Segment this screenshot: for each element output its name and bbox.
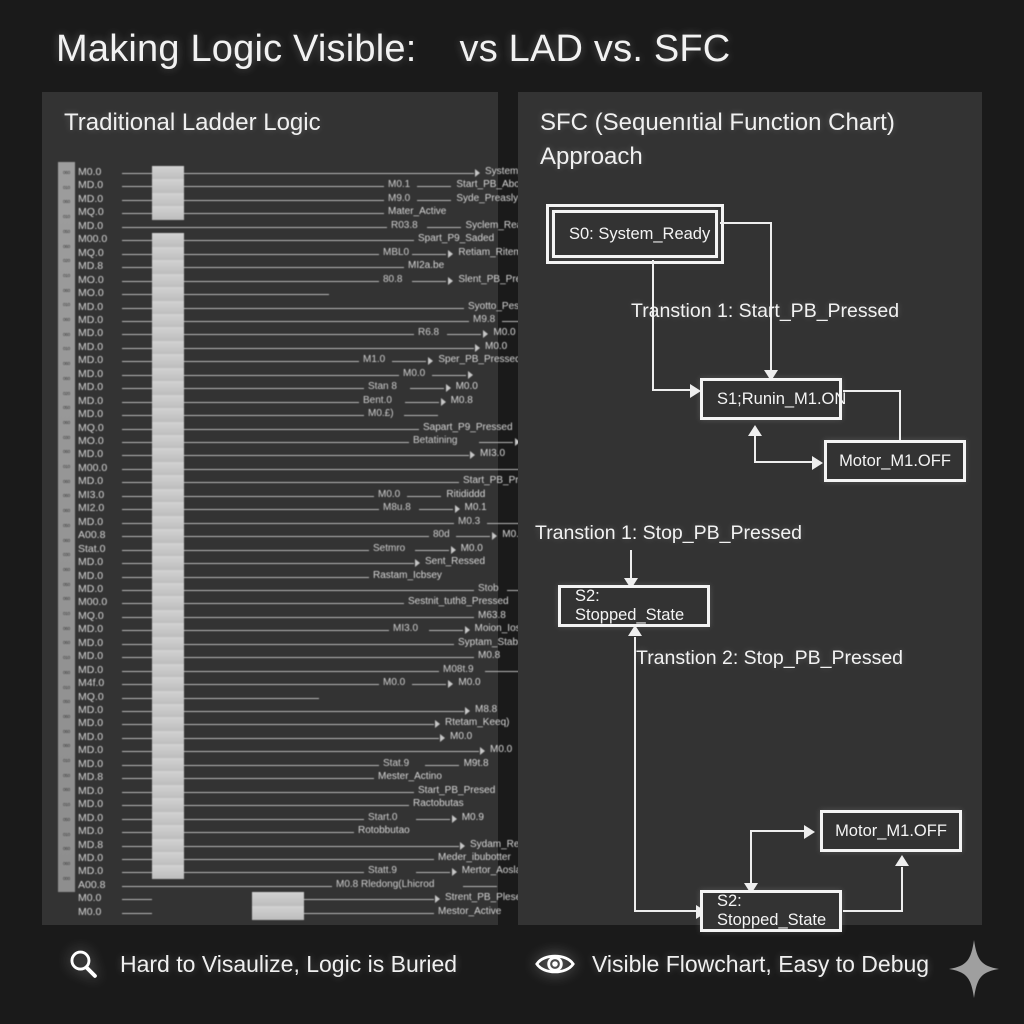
ladder-mid-address: MI3.0: [393, 623, 418, 634]
ladder-wire: [184, 832, 354, 833]
ladder-coil-label: Start_PB_Presed: [418, 785, 495, 796]
caption-traditional-ladder: Hard to Visaulize, Logic is Buried: [62, 947, 457, 981]
ladder-rung-address: MD.0: [78, 220, 103, 232]
ladder-wire: [419, 509, 453, 510]
ladder-rung-address: MD.0: [78, 637, 103, 649]
ladder-wire: [184, 429, 419, 430]
ladder-coil-label: M0.0: [458, 677, 480, 688]
ladder-wire: [184, 577, 369, 578]
ladder-coil-label: Rotobbutao: [358, 825, 410, 836]
ladder-wire: [432, 375, 466, 376]
sfc-transition-2-label: Transtion 1: Stop_PB_Pressed: [535, 522, 802, 545]
ladder-rung-address: MD.0: [78, 865, 103, 877]
ladder-wire: [184, 334, 414, 335]
ladder-wire: [184, 254, 379, 255]
ladder-rung-number: 060: [59, 596, 74, 601]
ladder-rung-address: MI2.0: [78, 502, 104, 514]
ladder-wire: [184, 792, 414, 793]
ladder-rung-address: MD.0: [78, 798, 103, 810]
ladder-flow-arrow-icon: [475, 169, 480, 177]
ladder-coil-label: Rastam_Icbsey: [373, 570, 442, 581]
ladder-wire: [122, 361, 152, 362]
ladder-rung-address: MD.0: [78, 825, 103, 837]
edge-s0-to-t1-horizontal: [720, 222, 772, 224]
ladder-wire: [184, 603, 404, 604]
ladder-rung-address: MD.0: [78, 570, 103, 582]
ladder-wire: [412, 281, 446, 282]
ladder-wire: [122, 563, 152, 564]
ladder-wire: [427, 227, 461, 228]
ladder-rung-address: MD.0: [78, 381, 103, 393]
ladder-rung-address: MD.0: [78, 516, 103, 528]
ladder-flow-arrow-icon: [451, 546, 456, 554]
edge-motor1-loop-horizontal: [754, 461, 816, 463]
ladder-rung: M0.0Mestor_Active: [78, 905, 488, 922]
sfc-node-s0-system-ready[interactable]: S0: System_Ready: [552, 210, 718, 258]
ladder-coil-label: Mater_Active: [388, 206, 446, 217]
ladder-wire: [122, 577, 152, 578]
ladder-wire: [417, 200, 451, 201]
ladder-wire: [122, 281, 152, 282]
ladder-mid-address: Betatining: [413, 435, 457, 446]
ladder-wire: [429, 630, 463, 631]
ladder-flow-arrow-icon: [448, 680, 453, 688]
ladder-flow-arrow-icon: [435, 895, 440, 903]
ladder-mid-address: Start.0: [368, 812, 397, 823]
ladder-wire: [405, 402, 439, 403]
sfc-diagram: S0: System_Ready Transtion 1: Start_PB_P…: [518, 92, 982, 925]
ladder-wire: [184, 751, 479, 752]
ladder-coil-label: M0.0: [456, 381, 478, 392]
sfc-node-s2b-label: S2: Stopped_State: [717, 892, 839, 930]
edge-s2b-return-horizontal: [634, 910, 700, 912]
edge-motor2-down-vertical: [750, 830, 752, 885]
ladder-wire: [122, 308, 152, 309]
ladder-wire: [304, 913, 434, 914]
ladder-coil-label: Ractobutas: [413, 798, 464, 809]
ladder-rung-number: 000: [59, 876, 74, 881]
sfc-node-s1-running[interactable]: S1;Runin_M1.ON: [700, 378, 842, 420]
edge-s2b-to-motor2-arrowhead: [895, 855, 909, 866]
ladder-flow-arrow-icon: [440, 734, 445, 742]
ladder-logic-diagram: 0600100600100500600200100600100600600100…: [58, 162, 488, 907]
ladder-rung-number: 050: [59, 817, 74, 822]
slide-root: Making Logic Visible: vs LAD vs. SFC Tra…: [0, 0, 1024, 1024]
ladder-flow-arrow-icon: [470, 451, 475, 459]
ladder-rung-address: MQ.0: [78, 247, 104, 259]
ladder-wire: [425, 765, 459, 766]
ladder-wire: [122, 213, 152, 214]
ladder-wire: [122, 173, 152, 174]
ladder-wire: [122, 388, 152, 389]
ladder-wire: [184, 671, 439, 672]
sfc-node-s2-stopped-upper[interactable]: S2: Stopped_State: [558, 585, 710, 627]
ladder-wire: [122, 805, 152, 806]
ladder-wire: [184, 348, 474, 349]
ladder-rung-number: 060: [59, 846, 74, 851]
ladder-coil-label: Mertor_Aoslay: [462, 865, 526, 876]
ladder-rung-number: 050: [59, 582, 74, 587]
sparkle-icon: [948, 940, 1000, 998]
ladder-wire: [122, 832, 152, 833]
ladder-wire: [416, 872, 450, 873]
ladder-rung-address: MD.0: [78, 583, 103, 595]
ladder-coil-label: Ritididdd: [446, 489, 485, 500]
ladder-wire: [122, 886, 152, 887]
ladder-wire: [184, 415, 364, 416]
ladder-rung-number: 050: [59, 699, 74, 704]
ladder-flow-arrow-icon: [465, 626, 470, 634]
edge-t2-vertical: [630, 550, 632, 580]
ladder-coil-label: Mester_Actino: [378, 771, 442, 782]
ladder-coil-label: M0.8: [478, 650, 500, 661]
ladder-power-rail: 0600100600100500600200100600100600600100…: [58, 162, 75, 892]
ladder-rung-number: 060: [59, 493, 74, 498]
ladder-coil-label: Sapart_P9_Pressed: [423, 422, 513, 433]
ladder-rung-number: 060: [59, 479, 74, 484]
ladder-rung-number: 010: [59, 464, 74, 469]
ladder-rung-number: 060: [59, 743, 74, 748]
edge-s1-to-motor1-horizontal: [843, 390, 901, 392]
ladder-wire: [122, 617, 152, 618]
left-caption-text: Hard to Visaulize, Logic is Buried: [120, 951, 457, 978]
ladder-coil-label: Spart_P9_Saded: [418, 233, 494, 244]
ladder-wire: [122, 657, 152, 658]
eye-icon: [534, 947, 576, 981]
ladder-rung-address: MQ.0: [78, 206, 104, 218]
ladder-mid-address: Setmro: [373, 543, 405, 554]
panel-traditional-ladder-logic: Traditional Ladder Logic 060010060010050…: [42, 92, 498, 925]
edge-t1-vertical: [770, 222, 772, 372]
ladder-wire: [122, 509, 152, 510]
ladder-wire: [392, 361, 426, 362]
ladder-mid-address: Statt.9: [368, 865, 397, 876]
ladder-wire: [122, 778, 152, 779]
ladder-coil-label: M0.9: [462, 812, 484, 823]
ladder-wire: [122, 819, 152, 820]
ladder-coil-label: Syptam_Stabe: [458, 637, 524, 648]
ladder-wire: [184, 267, 404, 268]
ladder-mid-address: M1.0: [363, 354, 385, 365]
ladder-rung-number: 030: [59, 435, 74, 440]
ladder-wire: [122, 671, 152, 672]
ladder-rung-address: M0.0: [78, 892, 101, 904]
edge-s2b-to-motor2-vertical: [901, 867, 903, 911]
ladder-rung-address: MD.0: [78, 717, 103, 729]
sfc-transition-3-label: Transtion 2: Stop_PB_Pressed: [636, 647, 903, 670]
ladder-mid-address: MBL0: [383, 247, 409, 258]
sfc-node-s0-label: S0: System_Ready: [569, 225, 710, 244]
ladder-mid-address: M0.8 Rledong(Lhicrod: [336, 879, 434, 890]
ladder-flow-arrow-icon: [480, 747, 485, 755]
ladder-flow-arrow-icon: [446, 384, 451, 392]
ladder-flow-arrow-icon: [448, 250, 453, 258]
ladder-mid-address: R6.8: [418, 327, 439, 338]
ladder-rung-number: 060: [59, 729, 74, 734]
ladder-rung-number: 050: [59, 229, 74, 234]
ladder-rung-number: 060: [59, 640, 74, 645]
ladder-rung-number: 060: [59, 170, 74, 175]
ladder-mid-address: M0.0: [383, 677, 405, 688]
edge-to-motor2-horizontal: [750, 830, 808, 832]
ladder-flow-arrow-icon: [428, 357, 433, 365]
sfc-transition-1-label: Transtion 1: Start_PB_Pressed: [631, 300, 899, 323]
ladder-wire: [404, 415, 438, 416]
sfc-action-motor-m1-off-lower[interactable]: Motor_M1.OFF: [820, 810, 962, 852]
ladder-mid-address: Bent.0: [363, 395, 392, 406]
ladder-coil-label: M0.0: [461, 543, 483, 554]
ladder-rung-address: MD.0: [78, 758, 103, 770]
ladder-rung-address: MD.0: [78, 448, 103, 460]
ladder-wire: [184, 321, 469, 322]
ladder-rung-address: M4f.0: [78, 677, 104, 689]
ladder-mid-address: Stob: [478, 583, 499, 594]
ladder-rung-number: 010: [59, 685, 74, 690]
ladder-coil-label: Meder_ibubotter: [438, 852, 511, 863]
ladder-wire: [122, 429, 152, 430]
ladder-rung-address: MD.0: [78, 354, 103, 366]
ladder-wire: [184, 550, 369, 551]
ladder-coil-label: M8.8: [475, 704, 497, 715]
ladder-wire: [184, 173, 474, 174]
ladder-wire: [184, 200, 384, 201]
ladder-wire: [122, 402, 152, 403]
ladder-wire: [122, 765, 152, 766]
ladder-mid-address: M9.0: [388, 193, 410, 204]
ladder-rung-address: MD.0: [78, 327, 103, 339]
ladder-rung-address: MD.0: [78, 623, 103, 635]
ladder-mid-address: M08t.9: [443, 664, 474, 675]
ladder-wire: [122, 590, 152, 591]
ladder-wire: [184, 724, 434, 725]
ladder-rung-number: 030: [59, 552, 74, 557]
ladder-mid-address: M9.8: [473, 314, 495, 325]
ladder-wire: [184, 563, 414, 564]
ladder-wire: [122, 254, 152, 255]
sfc-node-s1-label: S1;Runin_M1.ON: [717, 390, 846, 409]
ladder-flow-arrow-icon: [465, 707, 470, 715]
ladder-wire: [122, 630, 152, 631]
ladder-mid-address: M0.£): [368, 408, 394, 419]
ladder-rung-number: 060: [59, 244, 74, 249]
ladder-coil-label: M0.0: [485, 341, 507, 352]
ladder-coil-label: MI2a.be: [408, 260, 444, 271]
ladder-rung-address: MD.0: [78, 179, 103, 191]
ladder-wire: [184, 644, 454, 645]
ladder-wire: [122, 644, 152, 645]
ladder-wire: [122, 603, 152, 604]
ladder-rung-address: M00.0: [78, 462, 107, 474]
ladder-flow-arrow-icon: [448, 277, 453, 285]
ladder-rung-number: 020: [59, 258, 74, 263]
edge-s1-return-arrowhead: [748, 425, 762, 436]
ladder-flow-arrow-icon: [435, 720, 440, 728]
left-panel-title: Traditional Ladder Logic: [64, 106, 321, 140]
ladder-wire: [184, 361, 359, 362]
ladder-wire: [184, 455, 469, 456]
ladder-flow-arrow-icon: [452, 868, 457, 876]
ladder-mid-address: Stan 8: [368, 381, 397, 392]
ladder-wire: [184, 482, 459, 483]
ladder-wire: [122, 751, 152, 752]
ladder-wire: [122, 792, 152, 793]
ladder-wire: [122, 375, 152, 376]
ladder-rung-address: MD.0: [78, 812, 103, 824]
ladder-rung-address: MD.8: [78, 771, 103, 783]
ladder-rung-address: MD.0: [78, 650, 103, 662]
edge-s1-to-motor1-vertical: [899, 390, 901, 445]
ladder-coil-label: Start_PB_Abo9: [456, 179, 525, 190]
ladder-mid-address: Stat.9: [383, 758, 409, 769]
ladder-coil-label: M0.0: [490, 744, 512, 755]
ladder-wire: [487, 523, 521, 524]
ladder-flow-arrow-icon: [415, 559, 420, 567]
sfc-action-motor1-label: Motor_M1.OFF: [839, 452, 951, 471]
ladder-wire: [122, 496, 152, 497]
ladder-coil-label: M0.0: [450, 731, 472, 742]
ladder-rung-number: 050: [59, 773, 74, 778]
ladder-rung-number: 060: [59, 288, 74, 293]
ladder-rung-address: MD.0: [78, 731, 103, 743]
ladder-rung-number: 010: [59, 302, 74, 307]
ladder-wire: [463, 886, 497, 887]
ladder-contact: [252, 906, 304, 920]
ladder-rung-number: 010: [59, 346, 74, 351]
ladder-rung-address: MD.0: [78, 785, 103, 797]
ladder-rung-number: 010: [59, 802, 74, 807]
ladder-rung-number: 010: [59, 273, 74, 278]
ladder-wire: [122, 186, 152, 187]
sfc-action-motor-m1-off-upper[interactable]: Motor_M1.OFF: [824, 440, 966, 482]
sfc-action-motor2-label: Motor_M1.OFF: [835, 822, 947, 841]
edge-motor1-loop-arrowhead: [812, 456, 823, 470]
ladder-mid-address: M8u.8: [383, 502, 411, 513]
ladder-wire: [412, 254, 446, 255]
ladder-coil-label: Sper_PB_Pressed: [438, 354, 520, 365]
ladder-wire: [122, 200, 152, 201]
ladder-wire: [122, 227, 152, 228]
ladder-rung-number: 010: [59, 758, 74, 763]
ladder-rung-number: 010: [59, 832, 74, 837]
edge-s0-to-s1-horizontal: [652, 389, 694, 391]
ladder-wire: [184, 805, 409, 806]
ladder-wire: [122, 872, 152, 873]
ladder-wire: [456, 536, 490, 537]
ladder-coil-label: M0.1: [465, 502, 487, 513]
ladder-rung-address: MD.0: [78, 664, 103, 676]
ladder-wire: [122, 482, 152, 483]
ladder-rung-number: 010: [59, 655, 74, 660]
ladder-rung-address: MQ.0: [78, 422, 104, 434]
ladder-wire: [122, 846, 152, 847]
ladder-rung-address: MD.0: [78, 368, 103, 380]
ladder-flow-arrow-icon: [441, 398, 446, 406]
ladder-wire: [184, 738, 439, 739]
ladder-rung-address: A00.8: [78, 529, 105, 541]
ladder-mid-address: R03.8: [391, 220, 418, 231]
ladder-rung-address: A00.8: [78, 879, 105, 891]
ladder-rung-address: MD.0: [78, 852, 103, 864]
ladder-rung-address: MD.0: [78, 341, 103, 353]
ladder-flow-arrow-icon: [492, 532, 497, 540]
ladder-rung-address: MD.8: [78, 839, 103, 851]
ladder-flow-arrow-icon: [483, 330, 488, 338]
ladder-coil-label: Sestnit_tuth8_Pressed: [408, 596, 509, 607]
edge-s2a-return-arrowhead: [628, 625, 642, 636]
ladder-rung-address: MD.0: [78, 408, 103, 420]
ladder-rung-address: MI3.0: [78, 489, 104, 501]
ladder-wire: [184, 308, 464, 309]
sfc-node-s2-stopped-lower[interactable]: S2: Stopped_State: [700, 890, 842, 932]
ladder-rung-number: 060: [59, 376, 74, 381]
page-title: Making Logic Visible: vs LAD vs. SFC: [56, 28, 730, 71]
ladder-wire: [152, 886, 332, 887]
ladder-wire: [184, 711, 464, 712]
edge-s0-down-vertical: [652, 260, 654, 390]
ladder-wire: [184, 859, 434, 860]
search-icon: [62, 947, 104, 981]
ladder-rung-number: 060: [59, 317, 74, 322]
ladder-rung-number: 060: [59, 332, 74, 337]
ladder-wire: [184, 872, 364, 873]
ladder-coil-label: Mestor_Active: [438, 906, 501, 917]
ladder-wire: [184, 698, 319, 699]
ladder-wire: [184, 213, 384, 214]
ladder-rung-number: 010: [59, 185, 74, 190]
ladder-wire: [122, 455, 152, 456]
ladder-rung-address: M0.0: [78, 906, 101, 918]
ladder-flow-arrow-icon: [475, 344, 480, 352]
ladder-rung-address: MD.8: [78, 260, 103, 272]
ladder-wire: [184, 375, 399, 376]
ladder-wire: [184, 240, 414, 241]
ladder-mid-address: M0.0: [378, 489, 400, 500]
ladder-wire: [485, 671, 519, 672]
ladder-mid-address: M0.0: [403, 368, 425, 379]
ladder-wire: [122, 899, 152, 900]
ladder-coil-label: M9t.8: [464, 758, 489, 769]
ladder-wire: [417, 186, 451, 187]
ladder-rung-address: MD.0: [78, 301, 103, 313]
ladder-rung-address: MO.0: [78, 274, 104, 286]
ladder-wire: [410, 388, 444, 389]
ladder-rung-number: 060: [59, 626, 74, 631]
ladder-wire: [122, 698, 152, 699]
ladder-mid-address: 80d: [433, 529, 450, 540]
ladder-flow-arrow-icon: [452, 815, 457, 823]
ladder-wire: [184, 388, 364, 389]
ladder-wire: [184, 496, 374, 497]
ladder-wire: [122, 334, 152, 335]
ladder-wire: [184, 509, 379, 510]
ladder-rung-number: 050: [59, 405, 74, 410]
ladder-rung-address: M0.0: [78, 166, 101, 178]
right-caption-text: Visible Flowchart, Easy to Debug: [592, 951, 929, 978]
ladder-rung-number: 010: [59, 611, 74, 616]
ladder-wire: [184, 819, 364, 820]
ladder-wire: [122, 724, 152, 725]
ladder-rung-address: MO.0: [78, 435, 104, 447]
ladder-wire: [122, 913, 152, 914]
ladder-rung-address: MD.0: [78, 193, 103, 205]
edge-motor1-loop-vertical: [754, 435, 756, 463]
ladder-wire: [122, 240, 152, 241]
ladder-rung-address: MD.0: [78, 744, 103, 756]
ladder-rung-address: MD.0: [78, 314, 103, 326]
ladder-rung-address: M00.0: [78, 596, 107, 608]
ladder-wire: [304, 899, 434, 900]
ladder-rung-number: 060: [59, 567, 74, 572]
